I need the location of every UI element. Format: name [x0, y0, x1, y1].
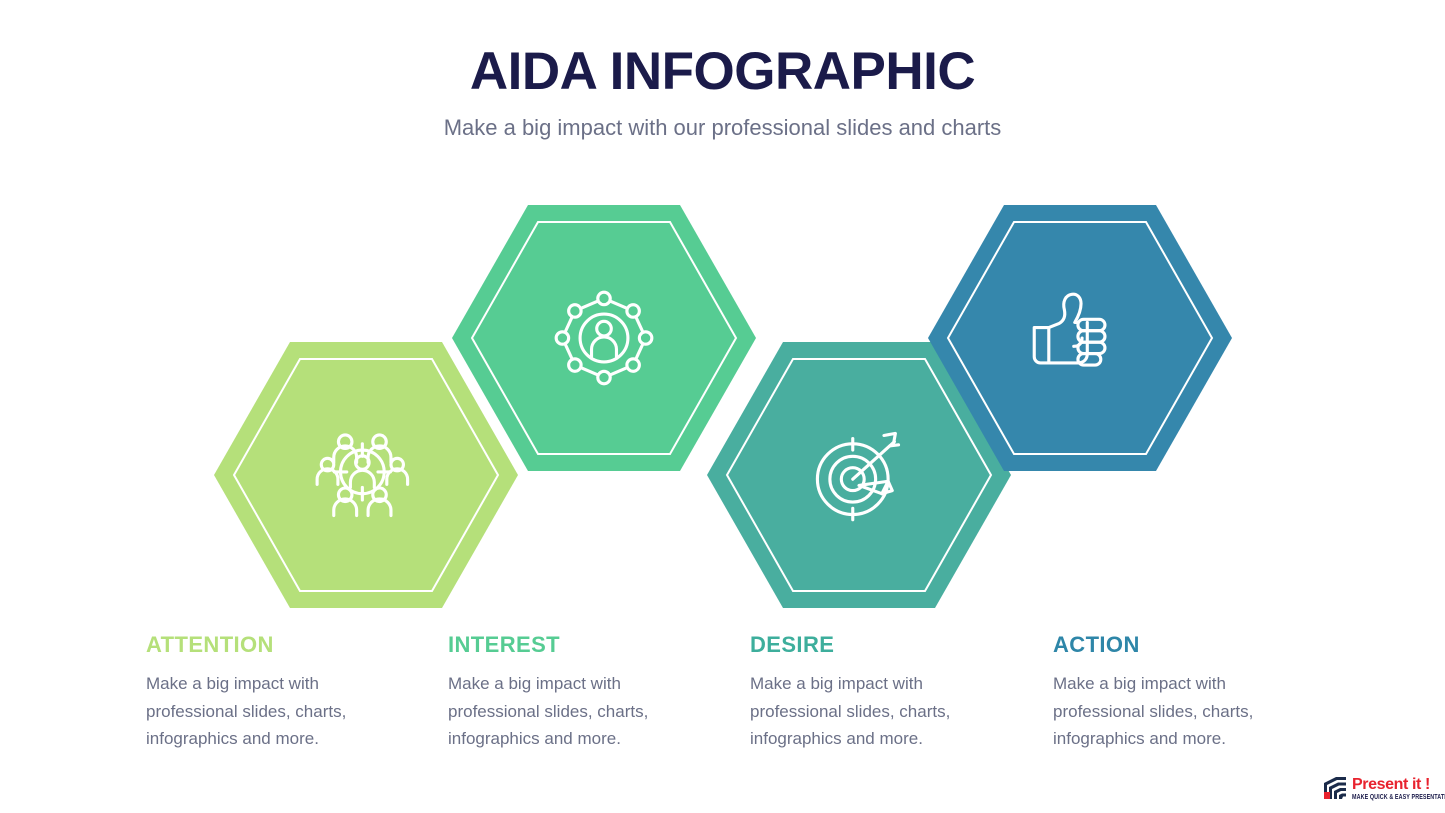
caption-body-attention: Make a big impact with professional slid…: [146, 670, 396, 753]
logo-tagline: MAKE QUICK & EASY PRESENTATIONS: [1352, 795, 1445, 802]
page-title: AIDA INFOGRAPHIC: [0, 44, 1445, 100]
caption-interest: INTEREST Make a big impact with professi…: [448, 633, 698, 753]
caption-action: ACTION Make a big impact with profession…: [1053, 633, 1303, 753]
caption-body-action: Make a big impact with professional slid…: [1053, 670, 1303, 753]
nested-bars-logo-icon: [1322, 777, 1348, 801]
target-arrow-icon: [807, 423, 911, 527]
brand-logo[interactable]: Present it ! MAKE QUICK & EASY PRESENTAT…: [1322, 772, 1434, 806]
caption-title-attention: ATTENTION: [146, 633, 396, 657]
logo-wordmark: Present it !: [1352, 777, 1445, 793]
caption-body-interest: Make a big impact with professional slid…: [448, 670, 698, 753]
hexagon-action[interactable]: [928, 205, 1232, 471]
caption-attention: ATTENTION Make a big impact with profess…: [146, 633, 396, 753]
caption-body-desire: Make a big impact with professional slid…: [750, 670, 1000, 753]
target-audience-icon: [314, 423, 418, 527]
caption-title-action: ACTION: [1053, 633, 1303, 657]
caption-title-interest: INTEREST: [448, 633, 698, 657]
page-subtitle: Make a big impact with our professional …: [0, 114, 1445, 143]
network-person-icon: [552, 286, 656, 390]
logo-text-block: Present it ! MAKE QUICK & EASY PRESENTAT…: [1352, 777, 1445, 800]
header: AIDA INFOGRAPHIC Make a big impact with …: [0, 44, 1445, 142]
thumbs-up-icon: [1028, 286, 1132, 390]
caption-desire: DESIRE Make a big impact with profession…: [750, 633, 1000, 753]
caption-title-desire: DESIRE: [750, 633, 1000, 657]
slide-canvas: AIDA INFOGRAPHIC Make a big impact with …: [0, 0, 1445, 813]
